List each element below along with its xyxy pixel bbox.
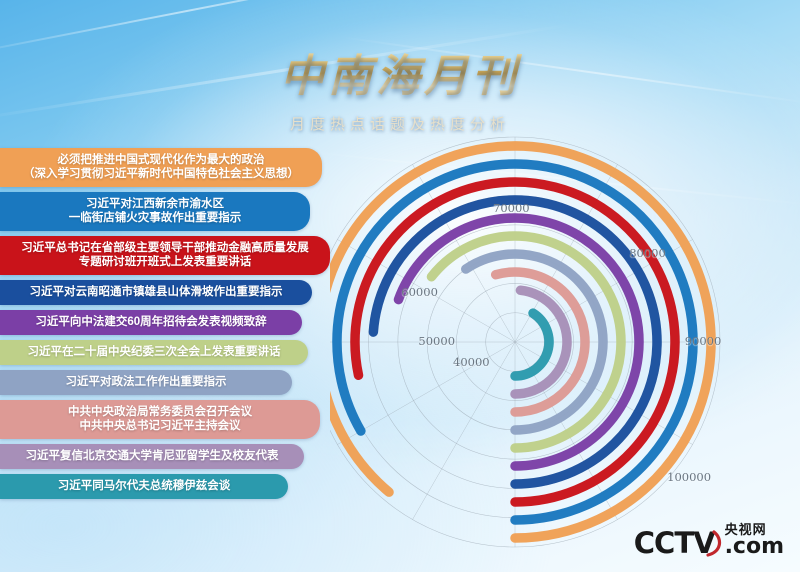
polar-chart-svg xyxy=(330,120,800,560)
legend-item[interactable]: 习近平总书记在省部级主要领导干部推动金融高质量发展 专题研讨班开班式上发表重要讲… xyxy=(0,236,330,275)
legend-item[interactable]: 习近平复信北京交通大学肯尼亚留学生及校友代表 xyxy=(0,444,304,469)
logo-right-block: 央视网 .com xyxy=(725,523,784,558)
legend-item-label: 习近平对江西新余市渝水区 一临街店铺火灾事故作出重要指示 xyxy=(69,197,242,225)
legend-item[interactable]: 习近平对云南昭通市镇雄县山体滑坡作出重要指示 xyxy=(0,280,312,305)
legend-item-label: 习近平向中法建交60周年招待会发表视频致辞 xyxy=(35,315,266,329)
radial-tick-label: 80000 xyxy=(629,246,666,260)
logo-cctv-text: CCTV xyxy=(634,529,715,558)
legend-item-label: 习近平复信北京交通大学肯尼亚留学生及校友代表 xyxy=(26,449,279,463)
legend-item-label: 必须把推进中国式现代化作为最大的政治 （深入学习贯彻习近平新时代中国特色社会主义… xyxy=(23,153,299,181)
legend-item-label: 习近平同马尔代夫总统穆伊兹会谈 xyxy=(58,479,231,493)
polar-bar-chart: 400005000060000700008000090000100000 xyxy=(330,120,800,560)
legend-item[interactable]: 习近平向中法建交60周年招待会发表视频致辞 xyxy=(0,310,302,335)
legend: 必须把推进中国式现代化作为最大的政治 （深入学习贯彻习近平新时代中国特色社会主义… xyxy=(0,148,330,504)
logo-swoosh-icon xyxy=(706,530,723,558)
radial-tick-label: 100000 xyxy=(667,470,711,484)
legend-item[interactable]: 习近平同马尔代夫总统穆伊兹会谈 xyxy=(0,474,288,499)
legend-item[interactable]: 习近平对政法工作作出重要指示 xyxy=(0,370,292,395)
legend-item[interactable]: 习近平对江西新余市渝水区 一临街店铺火灾事故作出重要指示 xyxy=(0,192,310,231)
legend-item-label: 习近平对政法工作作出重要指示 xyxy=(66,375,227,389)
page-title: 中南海月刊 xyxy=(274,40,526,104)
legend-item[interactable]: 必须把推进中国式现代化作为最大的政治 （深入学习贯彻习近平新时代中国特色社会主义… xyxy=(0,148,322,187)
legend-item-label: 习近平对云南昭通市镇雄县山体滑坡作出重要指示 xyxy=(30,285,283,299)
legend-item[interactable]: 中共中央政治局常务委员会召开会议 中共中央总书记习近平主持会议 xyxy=(0,400,320,439)
logo-domain-text: .com xyxy=(725,537,784,558)
legend-item-label: 习近平总书记在省部级主要领导干部推动金融高质量发展 专题研讨班开班式上发表重要讲… xyxy=(21,241,309,269)
cctv-logo: CCTV 央视网 .com xyxy=(634,523,784,558)
legend-item[interactable]: 习近平在二十届中央纪委三次全会上发表重要讲话 xyxy=(0,340,308,365)
legend-item-label: 习近平在二十届中央纪委三次全会上发表重要讲话 xyxy=(28,345,281,359)
radial-tick-label: 40000 xyxy=(453,355,490,369)
legend-item-label: 中共中央政治局常务委员会召开会议 中共中央总书记习近平主持会议 xyxy=(68,405,252,433)
radial-tick-label: 90000 xyxy=(685,334,722,348)
radial-tick-label: 50000 xyxy=(418,334,455,348)
radial-tick-label: 60000 xyxy=(401,285,438,299)
radial-tick-label: 70000 xyxy=(493,201,530,215)
